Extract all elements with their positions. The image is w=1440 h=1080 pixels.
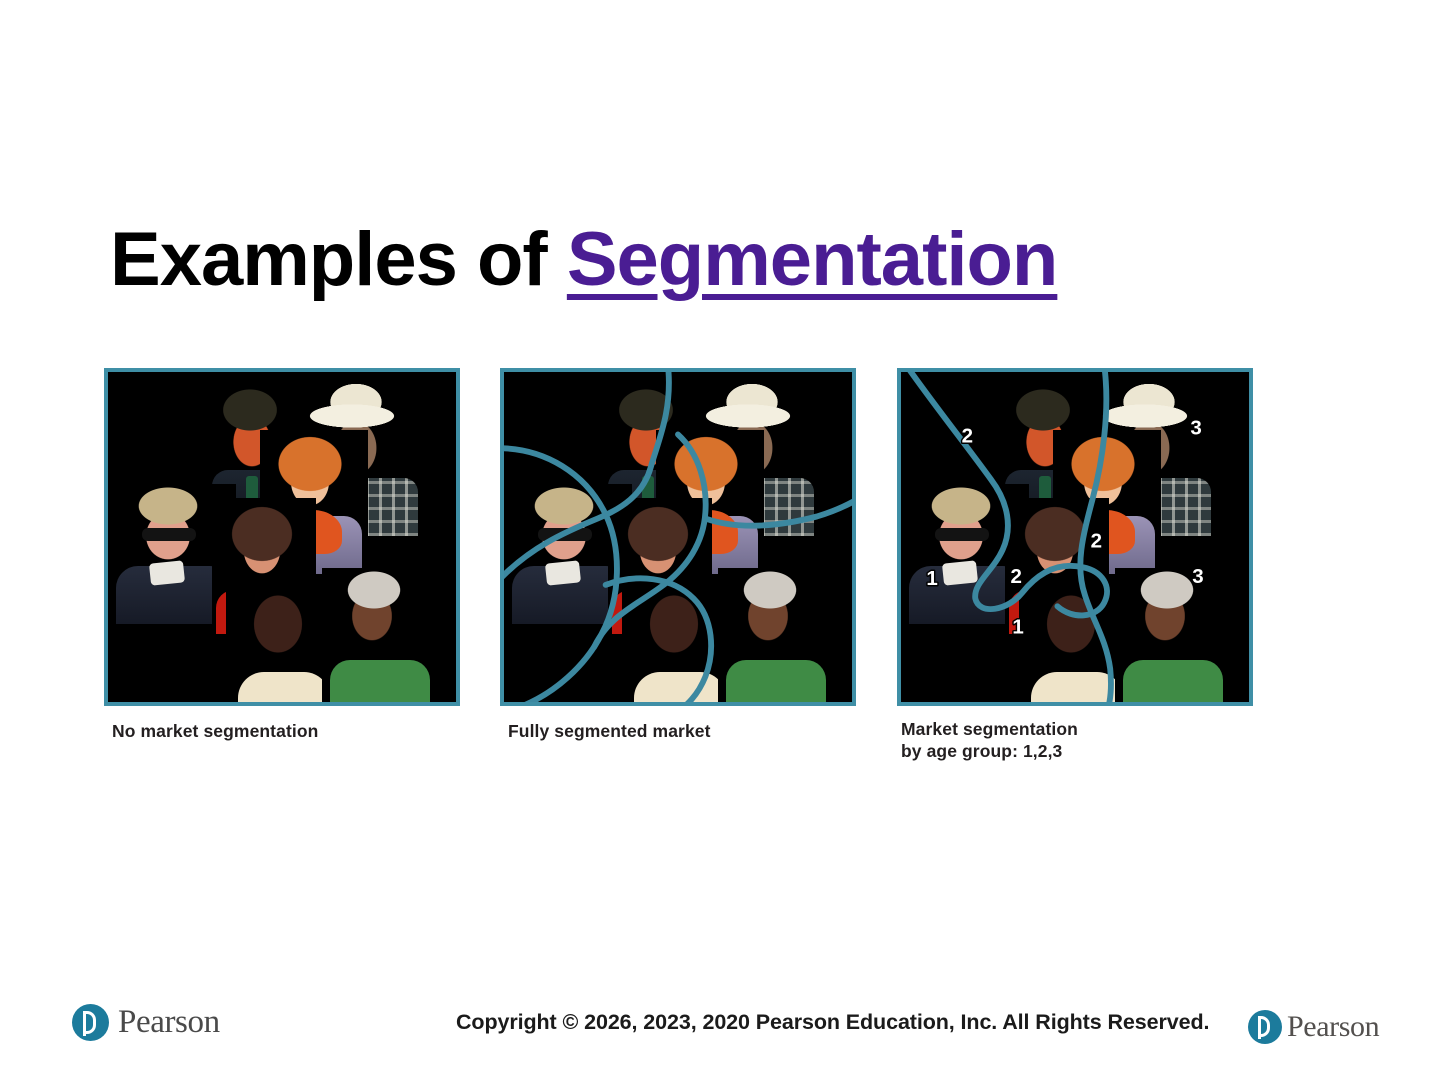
panel-fully-segmented: Fully segmented market	[500, 368, 856, 706]
panel-image-frame: 2 3 1 2 2 3 1	[897, 368, 1253, 706]
panel-caption-no-segmentation: No market segmentation	[112, 720, 318, 742]
pearson-logo-secondary: Pearson	[1248, 1010, 1379, 1044]
page-title-plain: Examples of	[110, 217, 567, 302]
person-young-woman	[1019, 580, 1129, 706]
person-young-woman	[622, 580, 732, 706]
person-elderly-man	[1115, 568, 1227, 706]
page-title: Examples of Segmentation	[110, 219, 1057, 301]
pearson-logo: Pearson	[72, 1004, 220, 1041]
page-title-highlight: Segmentation	[567, 217, 1058, 302]
segmentation-examples-row: No market segmentation Fully segmented m	[0, 368, 1440, 788]
people-collage-image	[504, 372, 852, 702]
pearson-p-icon	[1248, 1010, 1282, 1044]
people-collage-image	[108, 372, 456, 702]
person-young-woman	[226, 580, 336, 706]
panel-caption-age-group: Market segmentation by age group: 1,2,3	[901, 718, 1078, 763]
pearson-wordmark: Pearson	[1287, 1012, 1379, 1042]
pearson-wordmark: Pearson	[118, 1006, 220, 1039]
panel-image-frame	[104, 368, 460, 706]
person-elderly-man	[322, 568, 434, 706]
panel-no-segmentation: No market segmentation	[104, 368, 460, 706]
person-elderly-man	[718, 568, 830, 706]
panel-caption-fully-segmented: Fully segmented market	[508, 720, 711, 742]
copyright-notice: Copyright © 2026, 2023, 2020 Pearson Edu…	[456, 1010, 1209, 1035]
pearson-p-icon	[72, 1004, 109, 1041]
panel-age-group-segmentation: 2 3 1 2 2 3 1 Market segmentation by age…	[897, 368, 1253, 706]
people-collage-image	[901, 372, 1249, 702]
panel-image-frame	[500, 368, 856, 706]
